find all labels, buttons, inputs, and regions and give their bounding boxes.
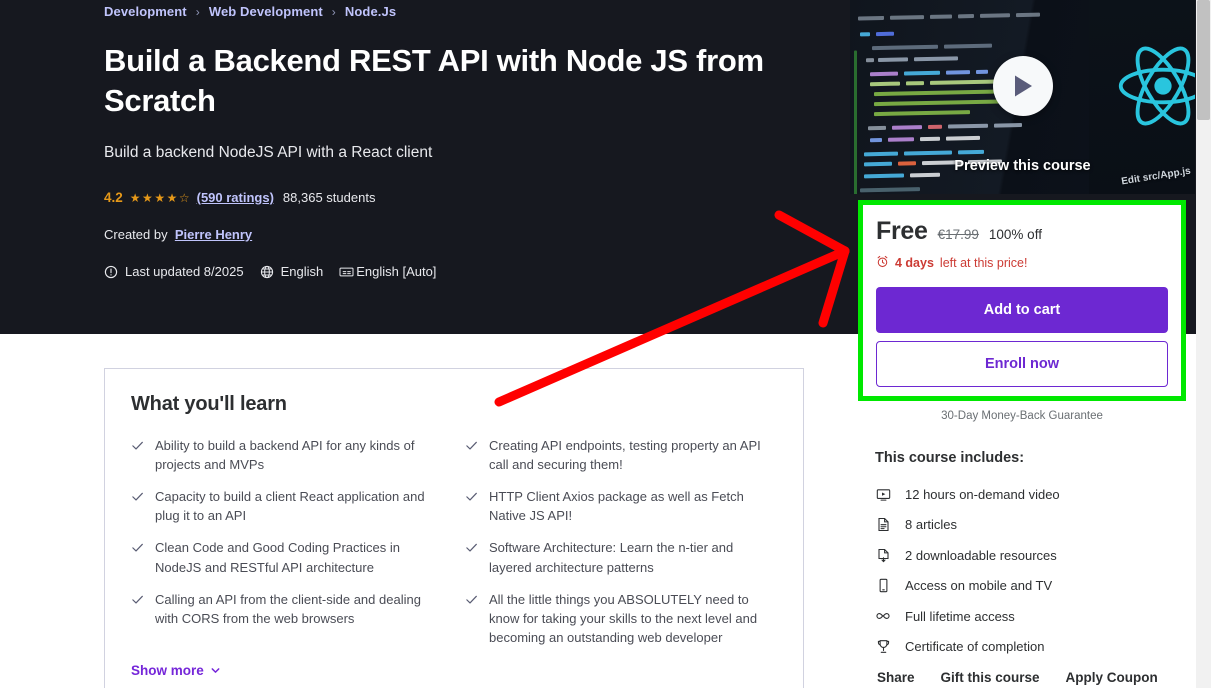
ratings-count-link[interactable]: (590 ratings) xyxy=(197,190,274,205)
learn-item: Clean Code and Good Coding Practices in … xyxy=(131,538,443,576)
mobile-device-icon xyxy=(875,578,891,593)
alarm-clock-icon xyxy=(876,255,889,271)
learn-items-grid: Ability to build a backend API for any k… xyxy=(131,436,777,647)
course-meta-row: Last updated 8/2025 English xyxy=(104,264,844,279)
star-empty-icon: ☆ xyxy=(179,192,190,204)
current-price: Free xyxy=(876,217,928,246)
breadcrumb: Development › Web Development › Node.Js xyxy=(104,0,844,19)
page-scrollbar[interactable] xyxy=(1196,0,1211,688)
star-rating: ★ ★ ★ ★ ☆ xyxy=(130,192,190,204)
download-icon xyxy=(875,548,891,563)
money-back-guarantee: 30-Day Money-Back Guarantee xyxy=(863,410,1181,422)
add-to-cart-button[interactable]: Add to cart xyxy=(876,287,1168,333)
learn-item-text: Calling an API from the client-side and … xyxy=(155,590,443,628)
video-play-icon xyxy=(875,487,891,502)
course-landing-page: Development › Web Development › Node.Js … xyxy=(0,0,1211,688)
language-item: English xyxy=(260,264,324,279)
students-count: 88,365 students xyxy=(283,190,376,205)
includes-item-label: Access on mobile and TV xyxy=(905,578,1052,593)
learn-item-text: Capacity to build a client React applica… xyxy=(155,487,443,525)
captions-text: English [Auto] xyxy=(356,264,436,279)
breadcrumb-item-development[interactable]: Development xyxy=(104,4,187,19)
chevron-right-icon: › xyxy=(196,5,200,19)
learn-item-text: Software Architecture: Learn the n-tier … xyxy=(489,538,777,576)
course-includes-section: This course includes: 12 hours on-demand… xyxy=(875,450,1185,662)
includes-item: 2 downloadable resources xyxy=(875,540,1185,571)
chevron-right-icon: › xyxy=(332,5,336,19)
scrollbar-thumb[interactable] xyxy=(1197,0,1210,120)
rating-value: 4.2 xyxy=(104,190,123,205)
created-by-row: Created by Pierre Henry xyxy=(104,227,844,242)
hero-content: Development › Web Development › Node.Js … xyxy=(104,0,844,279)
preview-this-course-label: Preview this course xyxy=(850,158,1195,174)
react-logo-icon xyxy=(1115,38,1195,134)
course-preview-video[interactable]: Edit src/App.js Preview this course xyxy=(850,0,1195,194)
price-timer-row: 4 days left at this price! xyxy=(876,255,1168,271)
includes-item: 8 articles xyxy=(875,510,1185,541)
check-icon xyxy=(131,439,144,452)
original-price: €17.99 xyxy=(938,227,979,242)
learn-item-text: All the little things you ABSOLUTELY nee… xyxy=(489,590,777,647)
exclamation-circle-icon xyxy=(104,265,118,279)
learn-item: HTTP Client Axios package as well as Fet… xyxy=(465,487,777,525)
chevron-down-icon xyxy=(210,665,221,676)
created-by-label: Created by xyxy=(104,227,168,242)
learn-item: Creating API endpoints, testing property… xyxy=(465,436,777,474)
course-subtitle: Build a backend NodeJS API with a React … xyxy=(104,142,844,164)
share-actions-row: Share Gift this course Apply Coupon xyxy=(877,670,1158,685)
learn-item: Capacity to build a client React applica… xyxy=(131,487,443,525)
check-icon xyxy=(465,593,478,606)
play-icon[interactable] xyxy=(993,56,1053,116)
check-icon xyxy=(131,490,144,503)
purchase-card: Free €17.99 100% off 4 days left at this… xyxy=(863,205,1181,393)
includes-item-label: 8 articles xyxy=(905,517,957,532)
language-text: English xyxy=(281,264,324,279)
check-icon xyxy=(465,439,478,452)
author-link[interactable]: Pierre Henry xyxy=(175,227,252,242)
last-updated-item: Last updated 8/2025 xyxy=(104,264,244,279)
breadcrumb-item-nodejs[interactable]: Node.Js xyxy=(345,4,396,19)
includes-item-label: 12 hours on-demand video xyxy=(905,487,1060,502)
timer-days: 4 days xyxy=(895,256,934,270)
check-icon xyxy=(465,490,478,503)
section-title-learn: What you'll learn xyxy=(131,393,777,416)
check-icon xyxy=(131,541,144,554)
last-updated-text: Last updated 8/2025 xyxy=(125,264,244,279)
what-youll-learn-box: What you'll learn Ability to build a bac… xyxy=(104,368,804,688)
infinity-icon xyxy=(875,609,891,623)
breadcrumb-item-web-development[interactable]: Web Development xyxy=(209,4,323,19)
includes-item: Full lifetime access xyxy=(875,601,1185,632)
discount-percent: 100% off xyxy=(989,227,1042,242)
captions-item: English [Auto] xyxy=(339,264,436,279)
includes-title: This course includes: xyxy=(875,450,1185,466)
includes-item-label: 2 downloadable resources xyxy=(905,548,1057,563)
timer-text: left at this price! xyxy=(940,256,1028,270)
gift-this-course-button[interactable]: Gift this course xyxy=(941,670,1040,685)
check-icon xyxy=(465,541,478,554)
apply-coupon-button[interactable]: Apply Coupon xyxy=(1066,670,1158,685)
rating-row: 4.2 ★ ★ ★ ★ ☆ (590 ratings) 88,365 stude… xyxy=(104,190,844,205)
star-filled-icon: ★ xyxy=(167,192,178,204)
star-filled-icon: ★ xyxy=(130,192,141,204)
includes-item-label: Full lifetime access xyxy=(905,609,1015,624)
enroll-now-button[interactable]: Enroll now xyxy=(876,341,1168,387)
learn-item: Ability to build a backend API for any k… xyxy=(131,436,443,474)
includes-item: Access on mobile and TV xyxy=(875,571,1185,602)
star-filled-icon: ★ xyxy=(142,192,153,204)
learn-item: Calling an API from the client-side and … xyxy=(131,590,443,647)
includes-item-label: Certificate of completion xyxy=(905,639,1044,654)
learn-item: Software Architecture: Learn the n-tier … xyxy=(465,538,777,576)
show-more-button[interactable]: Show more xyxy=(131,663,221,678)
learn-item: All the little things you ABSOLUTELY nee… xyxy=(465,590,777,647)
check-icon xyxy=(131,593,144,606)
learn-item-text: Ability to build a backend API for any k… xyxy=(155,436,443,474)
star-filled-icon: ★ xyxy=(154,192,165,204)
includes-item: 12 hours on-demand video xyxy=(875,479,1185,510)
closed-caption-icon xyxy=(339,265,354,279)
article-document-icon xyxy=(875,517,891,532)
trophy-icon xyxy=(875,639,891,654)
learn-item-text: Clean Code and Good Coding Practices in … xyxy=(155,538,443,576)
share-button[interactable]: Share xyxy=(877,670,915,685)
price-row: Free €17.99 100% off xyxy=(876,217,1168,246)
page-title: Build a Backend REST API with Node JS fr… xyxy=(104,41,804,120)
globe-icon xyxy=(260,265,274,279)
show-more-label: Show more xyxy=(131,663,204,678)
learn-item-text: Creating API endpoints, testing property… xyxy=(489,436,777,474)
learn-item-text: HTTP Client Axios package as well as Fet… xyxy=(489,487,777,525)
includes-item: Certificate of completion xyxy=(875,632,1185,663)
